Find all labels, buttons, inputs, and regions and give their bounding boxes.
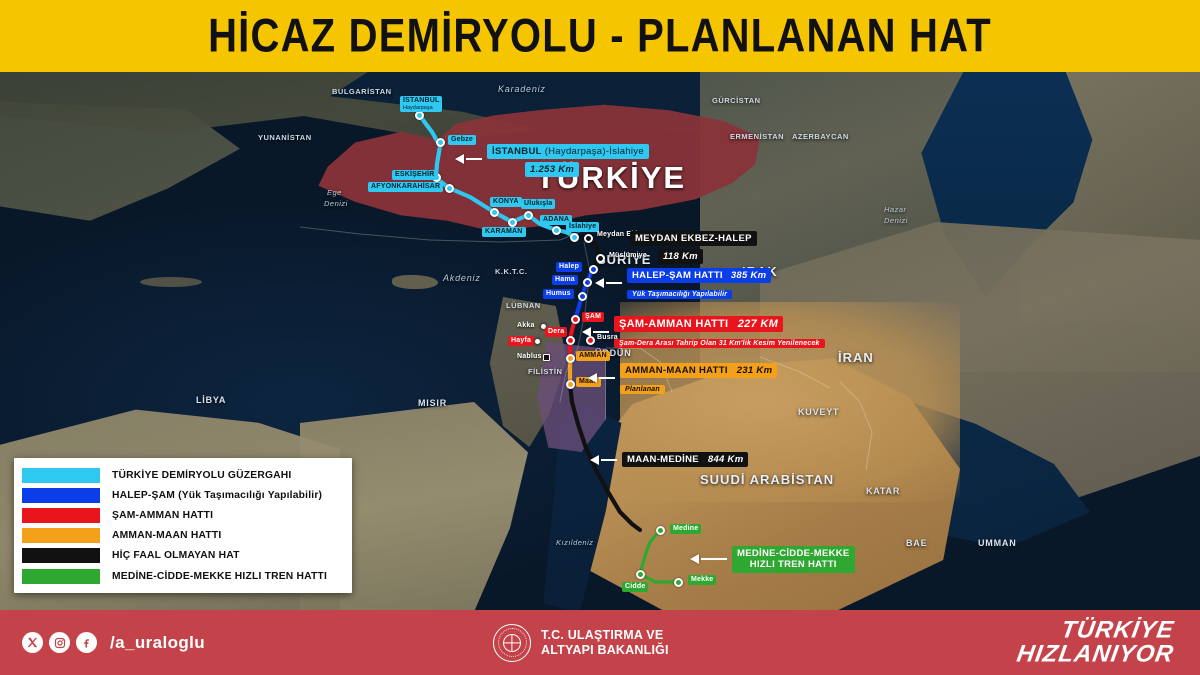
legend-label-1: HALEP-ŞAM (Yük Taşımacılığı Yapılabilir) <box>112 490 322 501</box>
geo-label-hazar-denizi-1: Hazar <box>884 205 907 214</box>
instagram-icon[interactable] <box>49 632 70 653</box>
marker-amman[interactable] <box>566 354 575 363</box>
geo-label-misir: MISIR <box>418 398 447 408</box>
callout-istanbul-islahiye: İSTANBUL (Haydarpaşa)-İslahiye 1.253 Km <box>455 141 649 177</box>
infographic-page: HİCAZ DEMİRYOLU - PLANLANAN HAT <box>0 0 1200 675</box>
arrow-icon-medine-cidde-mekke <box>690 554 699 564</box>
legend-swatch-blue <box>22 488 100 503</box>
marker-gebze[interactable] <box>436 138 445 147</box>
city-label-mekke: Mekke <box>688 575 716 585</box>
city-label-akka: Akka <box>514 321 538 331</box>
geo-label-suudi-arabistan: SUUDİ ARABİSTAN <box>700 472 834 487</box>
marker-sam[interactable] <box>571 315 580 324</box>
callout-halep-sam-title: HALEP-ŞAM HATTI <box>632 270 723 281</box>
arrow-line-medine-cidde-mekke <box>701 558 727 560</box>
callout-maan-medine-distance: 844 Km <box>708 454 744 465</box>
callout-amman-maan: AMMAN-MAAN HATTI 231 Km Planlanan <box>588 360 777 396</box>
arrow-icon-amman-maan <box>588 373 597 383</box>
geo-label-lubnan: LÜBNAN <box>506 301 541 310</box>
geo-label-hazar-denizi-2: Denizi <box>884 216 908 225</box>
marker-meydan-ekbez[interactable] <box>584 234 593 243</box>
legend-label-4: HİÇ FAAL OLMAYAN HAT <box>112 550 240 561</box>
marker-ulukisla[interactable] <box>524 211 533 220</box>
city-label-halep: Halep <box>556 262 582 272</box>
arrow-line-istanbul <box>466 158 482 160</box>
legend-item-turkiye-demiryolu[interactable]: TÜRKİYE DEMİRYOLU GÜZERGAHI <box>22 465 343 485</box>
callout-sam-amman-sub: Şam-Dera Arası Tahrip Olan 31 Km'lik Kes… <box>614 339 825 348</box>
geo-label-libya: LİBYA <box>196 395 226 405</box>
arrow-line-sam-amman <box>593 331 609 333</box>
geo-label-azerbaycan: AZERBAYCAN <box>792 132 849 141</box>
geo-label-bulgaristan: BULGARİSTAN <box>332 87 392 96</box>
callout-medine-cidde-mekke-line1: MEDİNE-CİDDE-MEKKE <box>737 548 850 559</box>
city-label-hama: Hama <box>552 275 578 285</box>
callout-meydan-ekbez-halep: MEYDAN EKBEZ-HALEP 118 Km <box>630 228 757 264</box>
x-icon[interactable] <box>22 632 43 653</box>
city-label-cidde: Cidde <box>622 582 648 592</box>
legend-label-0: TÜRKİYE DEMİRYOLU GÜZERGAHI <box>112 470 292 481</box>
arrow-line-halep-sam <box>606 282 622 284</box>
legend-swatch-orange <box>22 528 100 543</box>
geo-label-kuveyt: KUVEYT <box>798 407 839 417</box>
legend-item-halep-sam[interactable]: HALEP-ŞAM (Yük Taşımacılığı Yapılabilir) <box>22 485 343 505</box>
legend-label-2: ŞAM-AMMAN HATTI <box>112 510 213 521</box>
city-label-hayfa: Hayfa <box>508 336 534 346</box>
callout-sam-amman-title: ŞAM-AMMAN HATTI <box>619 318 728 330</box>
city-label-dera: Dera <box>545 327 567 337</box>
callout-istanbul-distance: 1.253 Km <box>525 162 579 177</box>
marker-dera[interactable] <box>566 336 575 345</box>
geo-label-ege-denizi-2: Denizi <box>324 199 348 208</box>
city-label-afyonkarahisar: AFYONKARAHİSAR <box>368 182 443 192</box>
callout-medine-cidde-mekke-line2: HIZLI TREN HATTI <box>750 559 837 570</box>
geo-label-kktc: K.K.T.C. <box>495 267 527 276</box>
geo-label-akdeniz: Akdeniz <box>443 273 481 283</box>
marker-karaman[interactable] <box>508 218 517 227</box>
city-label-istanbul: İSTANBUL Haydarpaşa <box>400 96 442 112</box>
callout-istanbul-city: İSTANBUL <box>492 146 542 157</box>
arrow-icon-sam-amman <box>582 327 591 337</box>
callout-medine-cidde-mekke: MEDİNE-CİDDE-MEKKE HIZLI TREN HATTI <box>690 546 855 573</box>
marker-medine[interactable] <box>656 526 665 535</box>
ministry-seal-icon <box>493 624 531 662</box>
callout-amman-maan-sub: Planlanan <box>620 385 665 394</box>
marker-konya[interactable] <box>490 208 499 217</box>
city-label-konya: KONYA <box>490 197 522 207</box>
marker-maan[interactable] <box>566 380 575 389</box>
callout-sam-amman: ŞAM-AMMAN HATTI 227 KM Şam-Dera Arası Ta… <box>582 314 825 350</box>
callout-istanbul-paren: (Haydarpaşa)-İslahiye <box>545 146 644 157</box>
arrow-line-amman-maan <box>599 377 615 379</box>
callout-maan-medine-main: MAAN-MEDİNE 844 Km <box>622 452 748 467</box>
marker-afyonkarahisar[interactable] <box>445 184 454 193</box>
callout-maan-medine-title: MAAN-MEDİNE <box>627 454 699 465</box>
arrow-icon-halep-sam <box>595 278 604 288</box>
city-label-medine: Medine <box>670 524 701 534</box>
legend-box: TÜRKİYE DEMİRYOLU GÜZERGAHI HALEP-ŞAM (Y… <box>14 458 352 593</box>
geo-label-katar: KATAR <box>866 486 900 496</box>
callout-amman-maan-title: AMMAN-MAAN HATTI <box>625 365 728 376</box>
arrow-icon-maan-medine <box>590 455 599 465</box>
geo-label-kizildeniz: Kızıldeniz <box>556 538 594 547</box>
facebook-icon[interactable] <box>76 632 97 653</box>
brand-line1: TÜRKİYE <box>1015 618 1176 642</box>
city-label-ulukisla: Ulukışla <box>521 199 555 209</box>
city-label-istanbul-sub: Haydarpaşa <box>403 105 439 111</box>
page-title: HİCAZ DEMİRYOLU - PLANLANAN HAT <box>208 12 992 59</box>
geo-label-iran: İRAN <box>838 350 874 365</box>
geo-label-gurcistan: GÜRCİSTAN <box>712 96 761 105</box>
city-label-humus: Humus <box>543 289 574 299</box>
callout-halep-sam-main: HALEP-ŞAM HATTI 385 Km <box>627 268 771 283</box>
geo-label-umman: UMMAN <box>978 538 1017 548</box>
brand-slogan: TÜRKİYE HIZLANIYOR <box>1017 618 1174 667</box>
arrow-line-maan-medine <box>601 459 617 461</box>
brand-line2: HIZLANIYOR <box>1015 643 1176 667</box>
legend-swatch-black <box>22 548 100 563</box>
callout-sam-amman-main: ŞAM-AMMAN HATTI 227 KM <box>614 316 783 332</box>
legend-swatch-red <box>22 508 100 523</box>
geo-label-karadeniz: Karadeniz <box>498 84 546 94</box>
social-handle[interactable]: /a_uraloglu <box>110 633 205 653</box>
callout-amman-maan-main: AMMAN-MAAN HATTI 231 Km <box>620 363 777 378</box>
ministry-line2: ALTYAPI BAKANLIĞI <box>541 643 669 658</box>
marker-hama[interactable] <box>583 278 592 287</box>
legend-label-3: AMMAN-MAAN HATTI <box>112 530 221 541</box>
geo-label-yunanistan: YUNANİSTAN <box>258 133 312 142</box>
callout-amman-maan-distance: 231 Km <box>737 365 773 376</box>
city-label-karaman: KARAMAN <box>482 227 526 237</box>
route-cidde-mekke-green <box>640 574 678 582</box>
callout-maan-medine: MAAN-MEDİNE 844 Km <box>590 452 748 467</box>
city-label-eskisehir: ESKİŞEHİR <box>392 170 438 180</box>
callout-sam-amman-distance: 227 KM <box>738 318 778 330</box>
legend-item-sam-amman[interactable]: ŞAM-AMMAN HATTI <box>22 505 343 525</box>
legend-item-amman-maan[interactable]: AMMAN-MAAN HATTI <box>22 526 343 546</box>
footer-bar: /a_uraloglu T.C. ULAŞTIRMA VE ALTYAPI BA… <box>0 610 1200 675</box>
city-label-istanbul-text: İSTANBUL <box>403 97 439 104</box>
callout-halep-sam: HALEP-ŞAM HATTI 385 Km Yük Taşımacılığı … <box>595 265 771 301</box>
callout-meydan-ekbez-main: MEYDAN EKBEZ-HALEP <box>630 231 757 246</box>
legend-item-medine-cidde-mekke[interactable]: MEDİNE-CİDDE-MEKKE HIZLI TREN HATTI <box>22 566 343 586</box>
marker-istanbul[interactable] <box>415 111 424 120</box>
callout-istanbul-main: İSTANBUL (Haydarpaşa)-İslahiye <box>487 144 649 159</box>
marker-humus[interactable] <box>578 292 587 301</box>
callout-meydan-ekbez-distance: 118 Km <box>658 249 703 264</box>
callout-medine-cidde-mekke-main: MEDİNE-CİDDE-MEKKE HIZLI TREN HATTI <box>732 546 855 573</box>
geo-label-ege-denizi-1: Ege <box>327 188 342 197</box>
arrow-icon-istanbul <box>455 154 464 164</box>
marker-hayfa[interactable] <box>534 338 541 345</box>
legend-label-5: MEDİNE-CİDDE-MEKKE HIZLI TREN HATTI <box>112 571 327 582</box>
legend-item-hic-faal-olmayan[interactable]: HİÇ FAAL OLMAYAN HAT <box>22 546 343 566</box>
callout-halep-sam-distance: 385 Km <box>731 270 767 281</box>
marker-cidde[interactable] <box>636 570 645 579</box>
geo-label-ermenistan: ERMENİSTAN <box>730 132 784 141</box>
ministry-line1: T.C. ULAŞTIRMA VE <box>541 628 669 643</box>
social-links: /a_uraloglu <box>22 632 205 653</box>
marker-mekke[interactable] <box>674 578 683 587</box>
ministry-name: T.C. ULAŞTIRMA VE ALTYAPI BAKANLIĞI <box>541 628 669 658</box>
callout-halep-sam-sub: Yük Taşımacılığı Yapılabilir <box>627 290 732 299</box>
legend-swatch-green <box>22 569 100 584</box>
geo-label-bae: BAE <box>906 538 927 548</box>
marker-muslumiye[interactable] <box>596 254 605 263</box>
marker-adana[interactable] <box>552 226 561 235</box>
city-label-nablus: Nablus <box>514 352 545 362</box>
globe-icon <box>503 634 521 652</box>
geo-label-filistin: FİLİSTİN <box>528 367 562 376</box>
ministry-logo: T.C. ULAŞTIRMA VE ALTYAPI BAKANLIĞI <box>493 624 669 662</box>
legend-swatch-cyan <box>22 468 100 483</box>
marker-islahiye[interactable] <box>570 233 579 242</box>
title-banner: HİCAZ DEMİRYOLU - PLANLANAN HAT <box>0 0 1200 72</box>
